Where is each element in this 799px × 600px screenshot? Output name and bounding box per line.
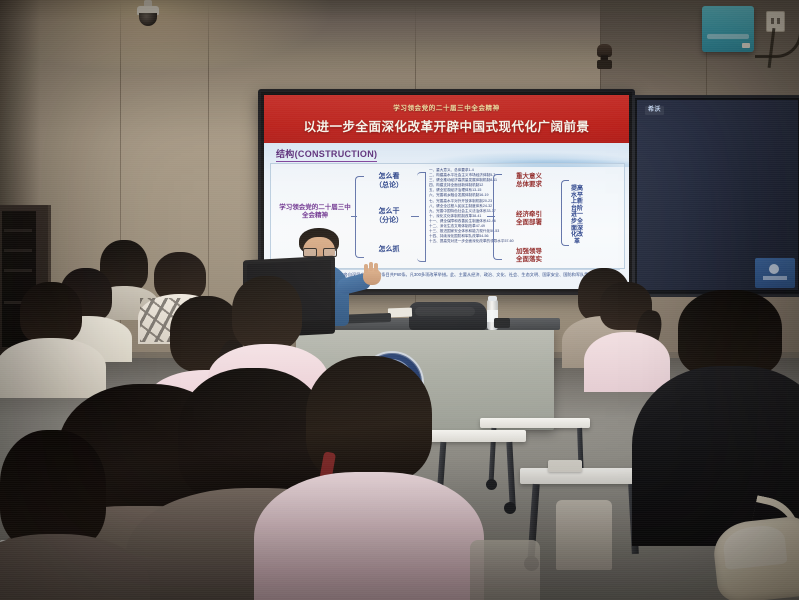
diagram-connector <box>487 216 495 217</box>
finger <box>374 263 378 272</box>
black-bag <box>409 302 487 330</box>
diagram-item: 十五、提高党对进一步全面深化改革的领导水平57-60 <box>429 239 489 244</box>
student-hair <box>20 282 82 344</box>
diagram-item: 六、完善城乡融合发展体制机制16-19 <box>429 193 489 198</box>
desk-top <box>480 418 590 428</box>
student-11 <box>0 430 120 600</box>
desk <box>520 468 648 484</box>
bag-fold <box>415 307 475 316</box>
diagram-brace-left <box>355 176 364 258</box>
diagram-root-label: 学习领会党的二十届三中全会精神 <box>279 204 351 220</box>
diagram-brace-far <box>561 180 569 246</box>
wall-mounted-camera-icon <box>595 44 615 70</box>
bag-flap <box>722 524 788 570</box>
diagram-branch-3: 怎么抓 <box>367 246 411 255</box>
rack-slot <box>4 229 32 232</box>
bottle-cap <box>488 296 497 301</box>
papers <box>388 308 412 318</box>
diagram-right-branch-3: 加强领导 全面落实 <box>503 248 555 264</box>
glasses-icon <box>303 248 335 255</box>
slide-title: 以进一步全面深化改革开辟中国式现代化广阔前景 <box>264 116 629 135</box>
secondary-display-screen: 希沃 <box>637 100 798 290</box>
student-2b <box>272 356 452 600</box>
diagram-right-branch-1: 重大意义 总体要求 <box>503 173 555 189</box>
wallcam-plate <box>597 60 612 69</box>
student-top <box>254 472 484 600</box>
diagram-brace-right <box>493 174 502 260</box>
diagram-item: 八、健全全过程人民民主制度体系24-32 <box>429 204 489 209</box>
finger <box>369 262 373 271</box>
classroom-photo: 学习领会党的二十届三中全会精神 以进一步全面深化改革开辟中国式现代化广阔前景 结… <box>0 0 799 600</box>
chair-back <box>556 500 612 570</box>
tablet-on-desk[interactable] <box>548 460 582 472</box>
diagram-connector <box>351 216 357 217</box>
diagram-item: 七、完善高水平对外开放体制机制20-23 <box>429 199 489 204</box>
student-hair <box>0 430 106 550</box>
student-hair <box>232 276 302 350</box>
student-6 <box>592 282 662 392</box>
socket-hole <box>771 18 774 24</box>
brand-watermark: 希沃 <box>645 106 664 115</box>
slide-subtitle: 学习领会党的二十届三中全会精神 <box>264 102 629 112</box>
socket-hole <box>777 18 780 24</box>
unit-led <box>742 43 750 48</box>
diagram-branch-1: 怎么看 （总论） <box>367 173 411 191</box>
unit-vent <box>707 34 749 39</box>
slide-section-heading: 结构(CONSTRUCTION) <box>276 147 377 162</box>
widget-label <box>763 276 787 280</box>
desk-top <box>520 468 648 484</box>
camera-dome <box>139 13 157 26</box>
desk-caster <box>486 479 497 490</box>
ceiling-dome-camera-icon <box>133 0 163 28</box>
teal-wall-unit <box>702 6 754 52</box>
desk-caster <box>504 502 516 514</box>
secondary-display[interactable]: 希沃 <box>632 95 799 297</box>
diagram-branch-2: 怎么干 （分论） <box>367 208 411 226</box>
rack-slot <box>4 249 32 252</box>
diagram-connector <box>411 216 419 217</box>
diagram-item-list: 一、重大意义、总体要求1-4二、构建高水平社会主义市场经济体制5-7三、健全推动… <box>429 168 489 244</box>
secondary-display-widget[interactable] <box>755 258 795 288</box>
student-10 <box>14 282 90 392</box>
remote-control[interactable] <box>494 318 510 328</box>
slide-header-band: 学习领会党的二十届三中全会精神 以进一步全面深化改革开辟中国式现代化广阔前景 <box>264 95 629 143</box>
finger <box>364 264 368 273</box>
widget-icon <box>769 264 779 274</box>
diagram-brace-middle <box>417 172 426 262</box>
desk <box>480 418 590 428</box>
presenter-hand <box>363 268 381 285</box>
diagram-right-branch-2: 经济牵引 全面部署 <box>503 211 555 227</box>
rack-slot <box>4 269 32 272</box>
diagram-far-right-label: 提高水平 上新台阶 进一步全面深化改革 <box>571 186 583 245</box>
chair-back <box>470 540 540 600</box>
student-hair <box>678 290 782 376</box>
